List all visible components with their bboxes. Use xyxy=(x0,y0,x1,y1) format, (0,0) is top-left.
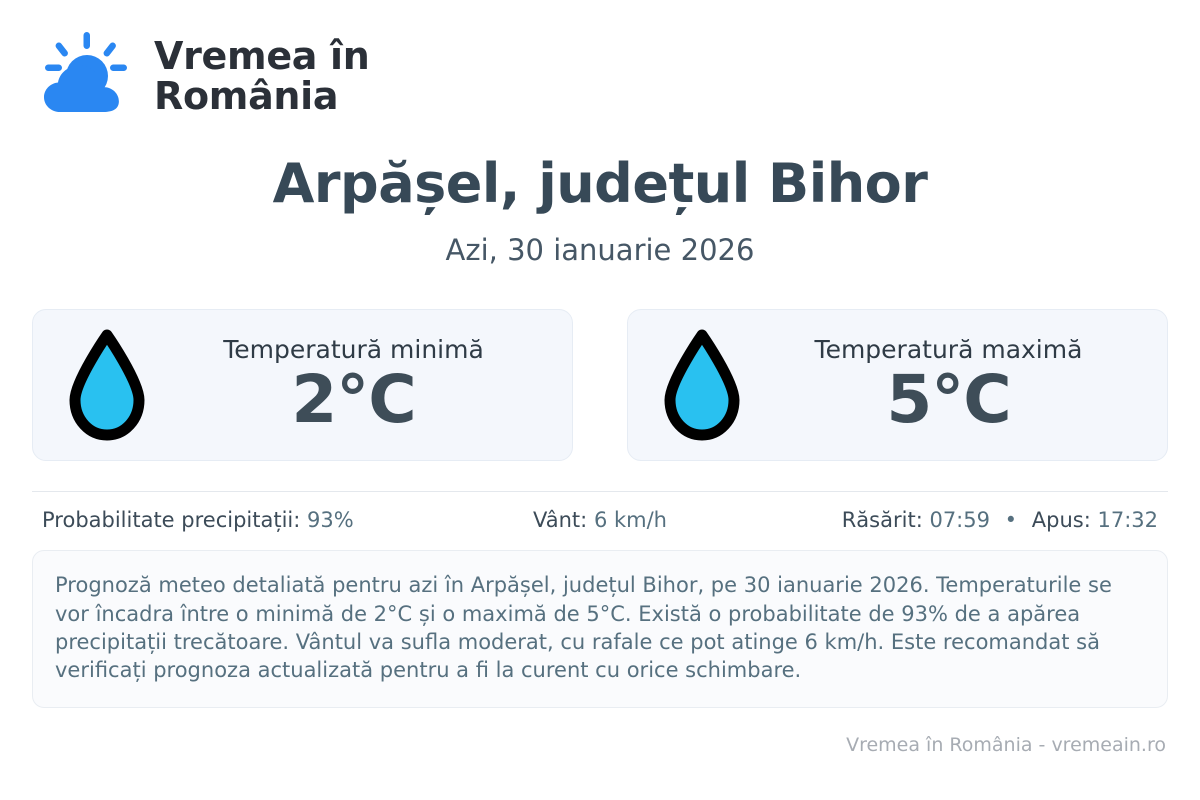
precipitation-value: 93% xyxy=(307,508,354,532)
title-block: Arpășel, județul Bihor Azi, 30 ianuarie … xyxy=(32,154,1168,267)
sunset-label: Apus: xyxy=(1032,508,1091,532)
wind-value: 6 km/h xyxy=(594,508,667,532)
weather-page: Vremea în România Arpășel, județul Bihor… xyxy=(0,0,1200,800)
temperature-min-value: 2°C xyxy=(155,365,552,434)
sun-behind-cloud-icon xyxy=(32,24,136,128)
page-title: Arpășel, județul Bihor xyxy=(32,154,1168,213)
temperature-max-value: 5°C xyxy=(750,365,1147,434)
temperature-card-min-body: Temperatură minimă 2°C xyxy=(155,336,558,435)
temperature-card-max-body: Temperatură maximă 5°C xyxy=(750,336,1153,435)
stat-sun-times: Răsărit: 07:59 • Apus: 17:32 xyxy=(786,508,1158,532)
brand-title-line-1: Vremea în xyxy=(154,36,370,76)
temperature-card-max: Temperatură maximă 5°C xyxy=(627,309,1168,461)
temperature-card-min: Temperatură minimă 2°C xyxy=(32,309,573,461)
temperature-max-label: Temperatură maximă xyxy=(750,336,1147,364)
water-drop-icon xyxy=(59,323,155,447)
stat-precipitation: Probabilitate precipitații: 93% xyxy=(42,508,414,532)
brand-title-line-2: România xyxy=(154,76,370,116)
brand-title: Vremea în România xyxy=(154,36,370,117)
sunset-value: 17:32 xyxy=(1097,508,1158,532)
sunrise-label: Răsărit: xyxy=(842,508,923,532)
sun-times-separator: • xyxy=(997,508,1025,532)
stats-row: Probabilitate precipitații: 93% Vânt: 6 … xyxy=(32,492,1168,548)
temperature-min-label: Temperatură minimă xyxy=(155,336,552,364)
stat-wind: Vânt: 6 km/h xyxy=(414,508,786,532)
wind-label: Vânt: xyxy=(533,508,587,532)
forecast-description-card: Prognoză meteo detaliată pentru azi în A… xyxy=(32,550,1168,707)
precipitation-label: Probabilitate precipitații: xyxy=(42,508,300,532)
temperature-cards: Temperatură minimă 2°C Temperatură maxim… xyxy=(32,309,1168,461)
footer: Vremea în România - vremeain.ro xyxy=(32,708,1168,756)
forecast-description-text: Prognoză meteo detaliată pentru azi în A… xyxy=(55,571,1145,684)
brand-header: Vremea în România xyxy=(32,0,1168,110)
water-drop-icon xyxy=(654,323,750,447)
sunrise-value: 07:59 xyxy=(929,508,990,532)
page-subtitle: Azi, 30 ianuarie 2026 xyxy=(32,235,1168,267)
